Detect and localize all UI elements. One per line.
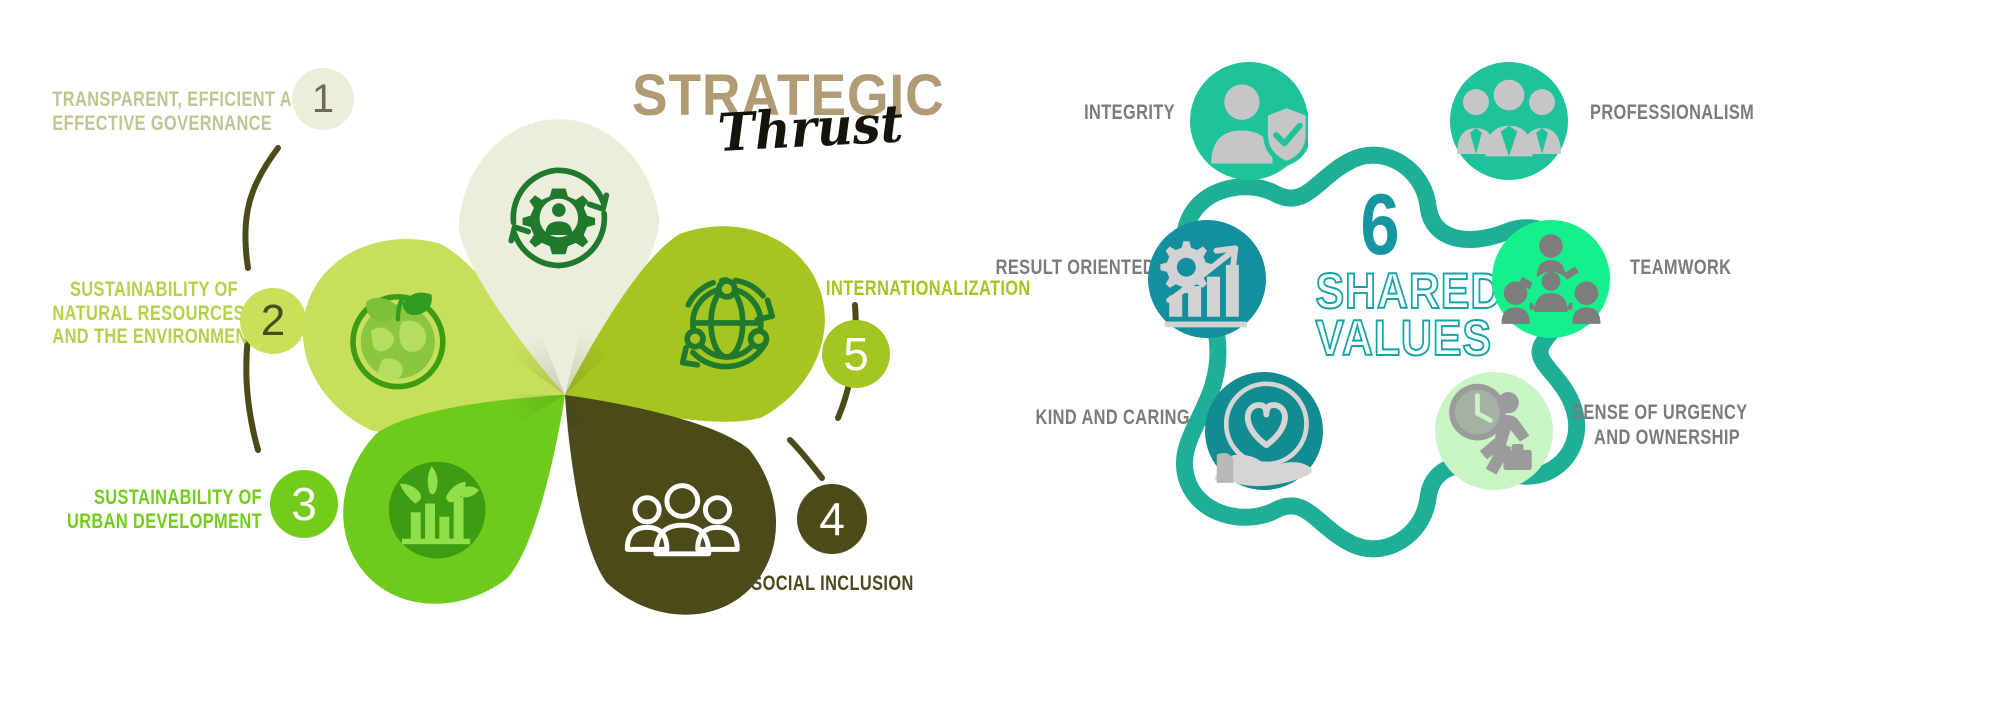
center-line-values: VALUES <box>1316 315 1445 363</box>
value-sense-of-urgency-circle[interactable] <box>1435 372 1553 490</box>
center-number: 6 <box>1319 188 1442 264</box>
value-result-oriented-circle[interactable] <box>1148 220 1266 338</box>
infographic-canvas: STRATEGIC Thrust TRANSPARENT, EFFICIENT … <box>0 0 2000 706</box>
value-kind-and-caring-circle[interactable] <box>1205 372 1323 490</box>
strategic-badge-1-number: 1 <box>312 79 334 119</box>
growth-chart-gear-icon <box>1148 220 1266 338</box>
strategic-item-3-label: SUSTAINABILITY OF URBAN DEVELOPMENT <box>0 486 262 533</box>
shared-values-panel: 6 SHARED VALUES INTEGRITY <box>1000 0 2000 706</box>
strategic-item-2-label: SUSTAINABILITY OF NATURAL RESOURCES AND … <box>0 278 238 349</box>
city-plants-icon <box>371 444 503 576</box>
value-professionalism-label: PROFESSIONALISM <box>1590 100 1920 125</box>
clock-running-person-icon <box>1435 372 1553 490</box>
strategic-badge-5[interactable]: 5 <box>822 320 890 388</box>
strategic-badge-4[interactable]: 4 <box>797 484 867 554</box>
strategic-badge-5-number: 5 <box>843 331 869 377</box>
title-block: STRATEGIC Thrust <box>632 62 972 164</box>
page-title-script: Thrust <box>716 90 960 164</box>
strategic-badge-3-number: 3 <box>291 481 317 527</box>
people-network-icon <box>1492 220 1610 338</box>
person-shield-icon <box>1190 62 1308 180</box>
value-integrity-circle[interactable] <box>1190 62 1308 180</box>
globe-network-icon <box>659 255 795 391</box>
strategic-badge-4-number: 4 <box>819 496 845 542</box>
strategic-badge-1[interactable]: 1 <box>292 68 354 130</box>
strategic-item-4-label: SOCIAL INCLUSION <box>725 572 940 596</box>
three-people-icon <box>616 455 748 587</box>
hand-heart-icon <box>1205 372 1323 490</box>
value-kind-and-caring-label: KIND AND CARING <box>900 405 1190 430</box>
value-result-oriented-label: RESULT ORIENTED <box>825 255 1155 280</box>
value-teamwork-label: TEAMWORK <box>1630 255 1960 280</box>
value-professionalism-circle[interactable] <box>1450 62 1568 180</box>
value-teamwork-circle[interactable] <box>1492 220 1610 338</box>
value-integrity-label: INTEGRITY <box>1000 100 1175 125</box>
strategic-badge-2[interactable]: 2 <box>240 288 306 354</box>
team-suits-icon <box>1450 62 1568 180</box>
shared-values-center-text: 6 SHARED VALUES <box>1305 188 1455 363</box>
strategic-thrust-panel: STRATEGIC Thrust TRANSPARENT, EFFICIENT … <box>0 0 1000 706</box>
strategic-badge-3[interactable]: 3 <box>270 470 338 538</box>
center-line-shared: SHARED <box>1316 268 1445 316</box>
strategic-badge-2-number: 2 <box>261 299 285 343</box>
strategic-item-1-label: TRANSPARENT, EFFICIENT AND EFFECTIVE GOV… <box>0 88 238 135</box>
value-sense-of-urgency-label: SENSE OF URGENCY AND OWNERSHIP <box>1572 400 1932 450</box>
